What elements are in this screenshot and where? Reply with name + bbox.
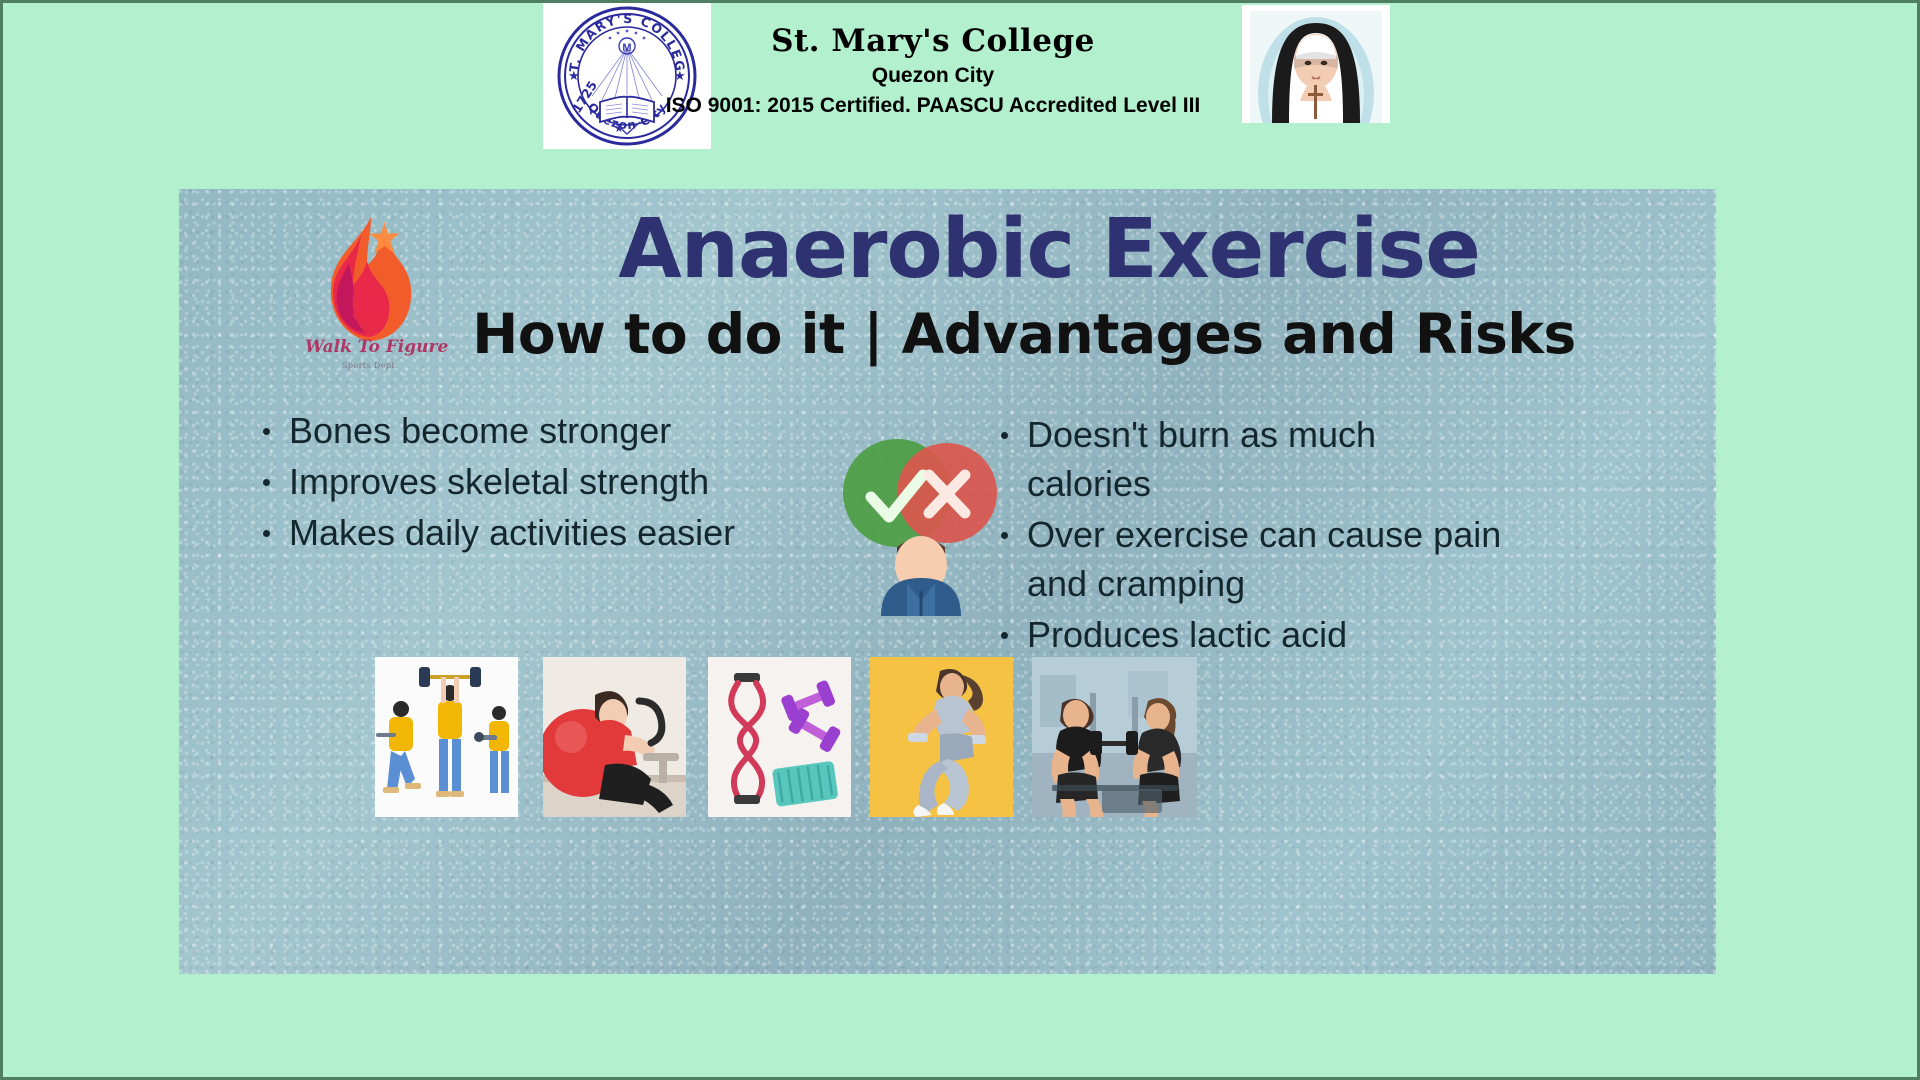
weightlifting-illustration-photo bbox=[375, 657, 518, 817]
slide-subtitle: How to do it | Advantages and Risks bbox=[379, 307, 1669, 362]
gym-barbell-training-icon bbox=[1032, 657, 1197, 817]
exercise-photo-strip bbox=[375, 657, 1575, 817]
list-item: Over exercise can cause pain and crampin… bbox=[989, 511, 1509, 609]
advantages-list: Bones become stronger Improves skeletal … bbox=[251, 407, 741, 558]
runner-yellow-background-icon bbox=[870, 657, 1013, 817]
risks-list: Doesn't burn as much calories Over exerc… bbox=[989, 411, 1509, 660]
school-accreditation: ISO 9001: 2015 Certified. PAASCU Accredi… bbox=[623, 95, 1243, 118]
pros-and-cons-person-icon bbox=[841, 431, 1001, 616]
logo-sub-text: Sports Dept. bbox=[305, 361, 435, 370]
gym-barbell-training-photo bbox=[1032, 657, 1197, 817]
pros-and-cons-icon-wrap bbox=[841, 431, 1001, 616]
resistance-bands-dumbbells-icon bbox=[708, 657, 851, 817]
school-city: Quezon City bbox=[623, 65, 1243, 88]
list-item: Makes daily activities easier bbox=[251, 509, 741, 558]
page-background: ST. MARY'S COLLEGE Quezon City 1725 ★ ★ … bbox=[3, 3, 1917, 1077]
list-item: Produces lactic acid bbox=[989, 611, 1509, 660]
praying-nun-portrait-icon bbox=[1242, 5, 1390, 123]
exercise-ball-workout-photo bbox=[543, 657, 686, 817]
advantages-column: Bones become stronger Improves skeletal … bbox=[251, 407, 741, 560]
school-identity-text: St. Mary's College Quezon City ISO 9001:… bbox=[623, 25, 1243, 118]
risks-column: Doesn't burn as much calories Over exerc… bbox=[989, 411, 1509, 662]
svg-text:★: ★ bbox=[568, 68, 580, 83]
saint-portrait bbox=[1242, 5, 1390, 123]
slide-title: Anaerobic Exercise bbox=[429, 209, 1669, 291]
resistance-bands-dumbbells-photo bbox=[708, 657, 851, 817]
course-logo: Walk To Figure Sports Dept. bbox=[305, 211, 435, 391]
runner-yellow-background-photo bbox=[870, 657, 1013, 817]
list-item: Doesn't burn as much calories bbox=[989, 411, 1509, 509]
list-item: Improves skeletal strength bbox=[251, 458, 741, 507]
exercise-ball-workout-icon bbox=[543, 657, 686, 817]
weightlifting-illustration-icon bbox=[375, 657, 518, 817]
school-name: St. Mary's College bbox=[623, 25, 1243, 58]
presentation-slide: Walk To Figure Sports Dept. Anaerobic Ex… bbox=[179, 189, 1716, 974]
list-item: Bones become stronger bbox=[251, 407, 741, 456]
letterhead: ST. MARY'S COLLEGE Quezon City 1725 ★ ★ … bbox=[3, 3, 1917, 153]
